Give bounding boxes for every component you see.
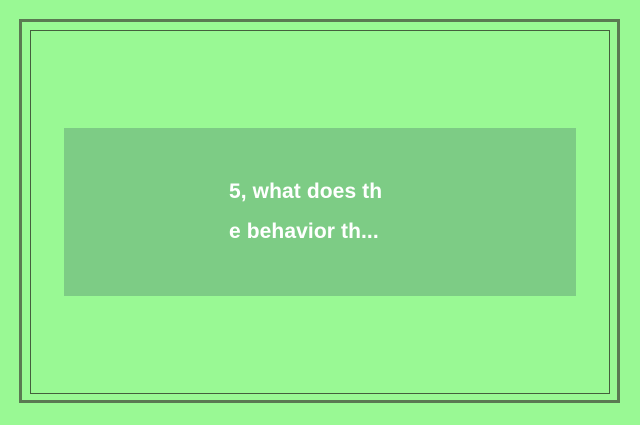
title-line-1: 5, what does th xyxy=(229,172,382,212)
content-panel: 5, what does th e behavior th... xyxy=(64,128,576,296)
title-line-2: e behavior th... xyxy=(229,212,379,252)
slide-canvas: 5, what does th e behavior th... xyxy=(0,0,640,425)
